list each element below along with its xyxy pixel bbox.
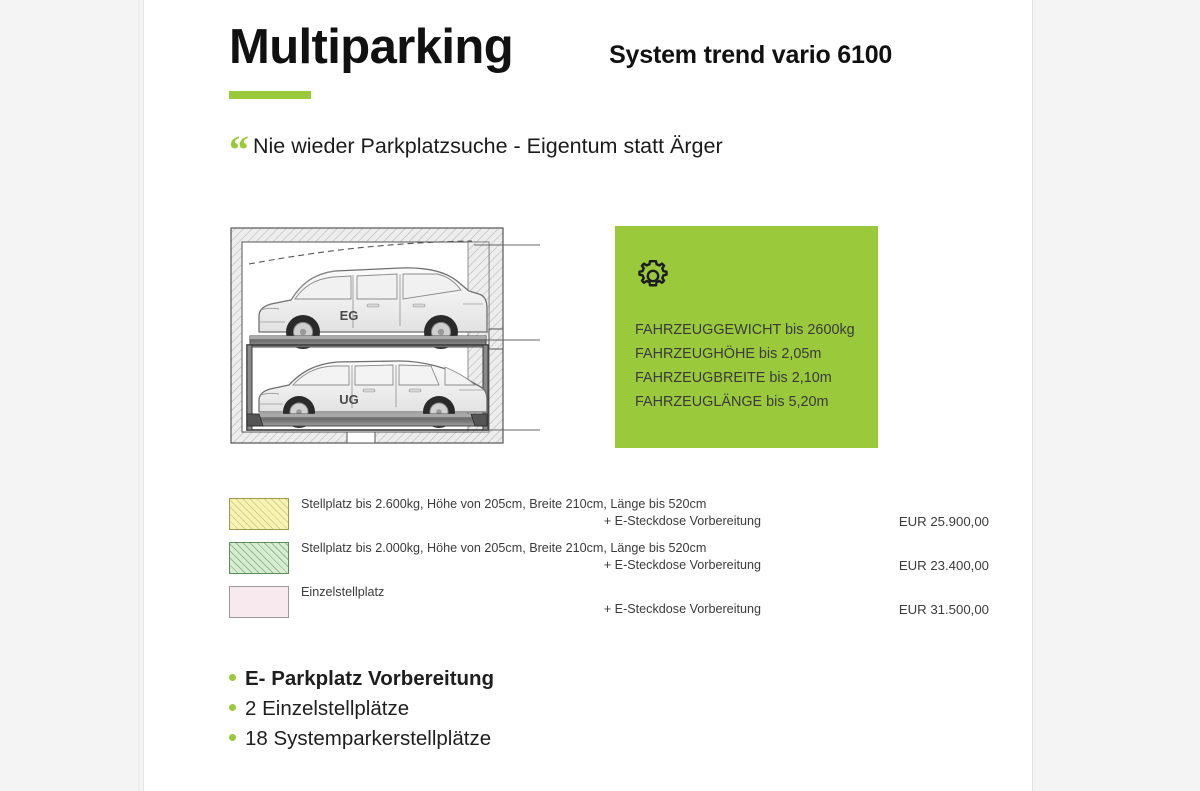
legend-desc-line2: + E-Steckdose Vorbereitung	[301, 513, 761, 530]
label-ug: UG	[339, 392, 359, 407]
list-item: E- Parkplatz Vorbereitung	[229, 664, 494, 694]
table-row: Stellplatz bis 2.000kg, Höhe von 205cm, …	[229, 540, 989, 584]
legend-desc-line1: Stellplatz bis 2.600kg, Höhe von 205cm, …	[301, 496, 761, 513]
quote-block: “ Nie wieder Parkplatzsuche - Eigentum s…	[229, 136, 723, 165]
quote-mark-icon: “	[229, 136, 247, 165]
legend-desc-line2: + E-Steckdose Vorbereitung	[301, 601, 761, 618]
feature-bullet-list: E- Parkplatz Vorbereitung 2 Einzelstellp…	[229, 664, 494, 754]
lower-platform	[247, 414, 487, 426]
gear-icon	[635, 258, 671, 299]
legend-desc-line2: + E-Steckdose Vorbereitung	[301, 557, 761, 574]
title-row: Multiparking System trend vario 6100	[229, 22, 989, 73]
spec-line-height: FAHRZEUGHÖHE bis 2,05m	[635, 342, 875, 366]
legend-desc-line1: Stellplatz bis 2.000kg, Höhe von 205cm, …	[301, 540, 761, 557]
vehicle-specs-panel: FAHRZEUGGEWICHT bis 2600kg FAHRZEUGHÖHE …	[615, 226, 878, 448]
spec-line-length: FAHRZEUGLÄNGE bis 5,20m	[635, 390, 875, 414]
list-item-label: 18 Systemparkerstellplätze	[245, 724, 491, 754]
list-item-label: 2 Einzelstellplätze	[245, 694, 409, 724]
legend-price: EUR 25.900,00	[799, 513, 989, 530]
list-item: 2 Einzelstellplätze	[229, 694, 494, 724]
list-item-label: E- Parkplatz Vorbereitung	[245, 664, 494, 694]
page-title: Multiparking	[229, 22, 513, 73]
price-legend: Stellplatz bis 2.600kg, Höhe von 205cm, …	[229, 496, 989, 628]
list-item: 18 Systemparkerstellplätze	[229, 724, 494, 754]
legend-price: EUR 31.500,00	[799, 601, 989, 618]
legend-description: Einzelstellplatz	[301, 584, 761, 601]
bullet-dot-icon	[229, 734, 236, 741]
spec-list: FAHRZEUGGEWICHT bis 2600kg FAHRZEUGHÖHE …	[635, 318, 875, 414]
accent-bar	[229, 91, 311, 99]
legend-description: Stellplatz bis 2.600kg, Höhe von 205cm, …	[301, 496, 761, 530]
legend-price: EUR 23.400,00	[799, 557, 989, 574]
spec-line-width: FAHRZEUGBREITE bis 2,10m	[635, 366, 875, 390]
quote-text: Nie wieder Parkplatzsuche - Eigentum sta…	[253, 136, 723, 158]
swatch-pink-plain	[229, 586, 289, 618]
legend-description: Stellplatz bis 2.000kg, Höhe von 205cm, …	[301, 540, 761, 574]
bullet-dot-icon	[229, 674, 236, 681]
page-header: Multiparking System trend vario 6100	[229, 22, 989, 99]
page-gutter-left	[138, 0, 140, 791]
swatch-yellow-hatched	[229, 498, 289, 530]
parking-lift-diagram: EG	[229, 226, 541, 448]
label-eg: EG	[340, 308, 359, 323]
bullet-dot-icon	[229, 704, 236, 711]
legend-desc-line1: Einzelstellplatz	[301, 584, 761, 601]
table-row: Stellplatz bis 2.600kg, Höhe von 205cm, …	[229, 496, 989, 540]
table-row: Einzelstellplatz + E-Steckdose Vorbereit…	[229, 584, 989, 628]
spec-line-weight: FAHRZEUGGEWICHT bis 2600kg	[635, 318, 875, 342]
swatch-green-hatched	[229, 542, 289, 574]
document-page: Multiparking System trend vario 6100 “ N…	[143, 0, 1033, 791]
page-subtitle: System trend vario 6100	[609, 41, 892, 70]
